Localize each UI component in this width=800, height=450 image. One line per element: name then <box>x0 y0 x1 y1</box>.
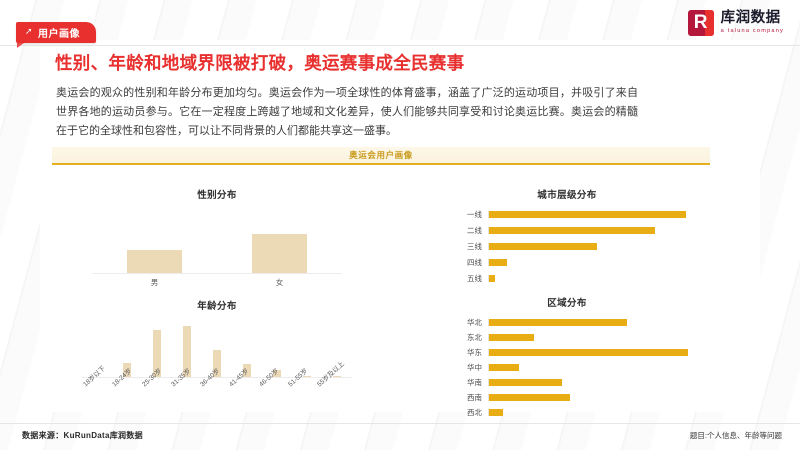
logo-name-cn: 库润数据 <box>721 11 784 26</box>
chart-bars-gender <box>92 211 342 273</box>
axis-tick-label: 华北 <box>442 317 488 328</box>
axis-tick-label: 二线 <box>442 225 488 236</box>
bar-track <box>488 379 692 386</box>
bar-track <box>488 243 692 250</box>
axis-tick-label: 华南 <box>442 377 488 388</box>
bar <box>127 250 182 273</box>
axis-tick-label: 西南 <box>442 392 488 403</box>
brand-logo: R 库润数据 a taluna company <box>688 10 784 36</box>
axis-tick-label: 西北 <box>442 407 488 418</box>
bar-column <box>217 211 342 273</box>
bar-track <box>488 409 692 416</box>
axis-tick-label: 四线 <box>442 257 488 268</box>
bar-track <box>488 334 692 341</box>
bar <box>489 379 562 386</box>
bar-row: 华南 <box>442 379 692 386</box>
charts-grid: 性别分布 男女 年龄分布 18岁以下18-24岁25-30岁31-35岁36-4… <box>52 165 710 431</box>
bar <box>489 394 570 401</box>
bar-track <box>488 364 692 371</box>
chart-title-gender: 性别分布 <box>92 187 342 201</box>
bar-column <box>92 211 217 273</box>
axis-tick-label: 女 <box>217 277 342 288</box>
axis-tick-label: 三线 <box>442 241 488 252</box>
bar-row: 二线 <box>442 227 692 234</box>
page-title: 性别、年龄和地域界限被打破，奥运赛事成全民赛事 <box>55 50 464 75</box>
chart-city-tier-distribution: 城市层级分布 一线二线三线四线五线 <box>442 187 692 291</box>
chart-bars-city-tier: 一线二线三线四线五线 <box>442 211 692 282</box>
body-paragraph: 奥运会的观众的性别和年龄分布更加均匀。奥运会作为一项全球性的体育盛事，涵盖了广泛… <box>56 84 638 141</box>
bar <box>489 275 495 282</box>
charts-panel: 奥运会用户画像 性别分布 男女 年龄分布 18岁以下18-24岁25-30岁31… <box>52 147 710 431</box>
bar <box>489 364 519 371</box>
chart-age-distribution: 年龄分布 18岁以下18-24岁25-30岁31-35岁36-40岁41-45岁… <box>82 298 352 391</box>
chart-title-age: 年龄分布 <box>82 298 352 312</box>
bar-row: 三线 <box>442 243 692 250</box>
bar-row: 华东 <box>442 349 692 356</box>
bar-track <box>488 211 692 218</box>
section-badge-tail <box>17 43 24 48</box>
axis-tick-label: 东北 <box>442 332 488 343</box>
chart-title-city-tier: 城市层级分布 <box>442 187 692 201</box>
axis-tick-label: 男 <box>92 277 217 288</box>
arrow-up-right-icon: ➚ <box>25 26 33 37</box>
logo-mark-icon: R <box>688 10 714 36</box>
bar-row: 西北 <box>442 409 692 416</box>
bar-row: 西南 <box>442 394 692 401</box>
bar-row: 五线 <box>442 275 692 282</box>
chart-title-region: 区域分布 <box>442 295 692 309</box>
bar-track <box>488 227 692 234</box>
chart-xaxis-age: 18岁以下18-24岁25-30岁31-35岁36-40岁41-45岁46-50… <box>82 381 352 391</box>
bar-track <box>488 319 692 326</box>
logo-mark-letter: R <box>694 12 708 33</box>
axis-tick-label: 华中 <box>442 362 488 373</box>
chart-xaxis-gender: 男女 <box>92 277 342 288</box>
chart-bars-region: 华北东北华东华中华南西南西北 <box>442 319 692 416</box>
header-divider <box>0 45 800 46</box>
section-badge-label: 用户画像 <box>38 25 80 40</box>
bar <box>489 211 686 218</box>
footer-divider <box>0 423 800 424</box>
bar-track <box>488 259 692 266</box>
axis-tick-label: 五线 <box>442 273 488 284</box>
bar <box>489 227 655 234</box>
charts-panel-header: 奥运会用户画像 <box>52 147 710 165</box>
slide-page: ➚ 用户画像 R 库润数据 a taluna company 性别、年龄和地域界… <box>0 0 800 450</box>
bar <box>252 234 307 273</box>
bar <box>489 409 503 416</box>
chart-gender-distribution: 性别分布 男女 <box>92 187 342 288</box>
axis-tick-label: 一线 <box>442 209 488 220</box>
bar-track <box>488 349 692 356</box>
bar-row: 华中 <box>442 364 692 371</box>
bar <box>489 319 627 326</box>
footer-note: 题目:个人信息、年龄等问题 <box>690 430 782 441</box>
axis-tick-label: 华东 <box>442 347 488 358</box>
chart-plot-gender <box>92 211 342 274</box>
charts-panel-title: 奥运会用户画像 <box>349 149 413 161</box>
footer-data-source: 数据来源：KuRunData库润数据 <box>22 430 143 441</box>
bar-track <box>488 394 692 401</box>
bar <box>489 349 688 356</box>
bar-track <box>488 275 692 282</box>
bar-row: 东北 <box>442 334 692 341</box>
bar <box>489 243 597 250</box>
chart-region-distribution: 区域分布 华北东北华东华中华南西南西北 <box>442 295 692 424</box>
bar-row: 华北 <box>442 319 692 326</box>
logo-text-block: 库润数据 a taluna company <box>721 11 784 34</box>
logo-tagline-en: a taluna company <box>721 29 784 35</box>
section-badge[interactable]: ➚ 用户画像 <box>16 22 96 43</box>
bar <box>333 376 341 377</box>
bar-row: 一线 <box>442 211 692 218</box>
bar <box>489 334 534 341</box>
bar-row: 四线 <box>442 259 692 266</box>
bar <box>489 259 507 266</box>
